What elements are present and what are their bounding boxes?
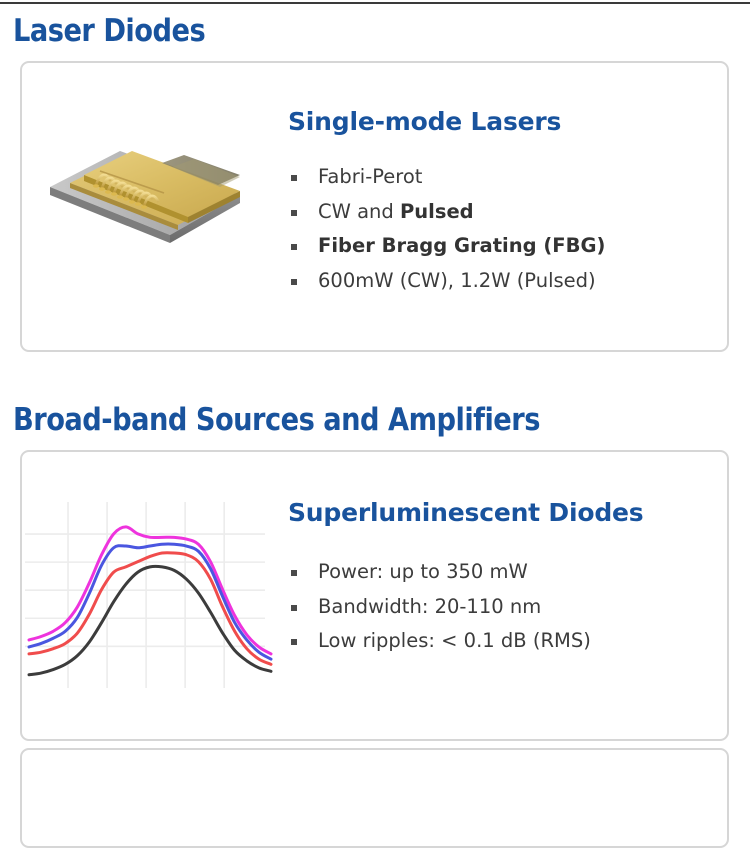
bullet-square-icon — [291, 605, 297, 611]
section-heading-laser-diodes: Laser Diodes — [13, 16, 205, 47]
feature-text: CW and — [318, 200, 400, 223]
bullet-square-icon — [291, 244, 297, 250]
list-item: CW and Pulsed — [288, 202, 605, 222]
list-item: Fabri-Perot — [288, 167, 605, 187]
chart-series — [29, 527, 271, 675]
card-text-column: Superluminescent Diodes Power: up to 350… — [288, 452, 719, 739]
list-item: Bandwidth: 20-110 nm — [288, 597, 591, 617]
laser-diode-chip-photo — [44, 113, 264, 258]
feature-text: Power: up to 350 mW — [318, 560, 528, 583]
product-card-single-mode-lasers[interactable]: Single-mode Lasers Fabri-Perot CW and Pu… — [20, 61, 729, 352]
feature-list-single-mode-lasers: Fabri-Perot CW and Pulsed Fiber Bragg Gr… — [288, 167, 605, 305]
card-media-spectrum-chart — [22, 452, 284, 739]
card-text-column: Single-mode Lasers Fabri-Perot CW and Pu… — [288, 63, 719, 350]
list-item: Fiber Bragg Grating (FBG) — [288, 236, 605, 256]
chart-gridlines — [25, 502, 265, 688]
feature-text: Fabri-Perot — [318, 165, 422, 188]
section-heading-broadband-sources: Broad-band Sources and Amplifiers — [13, 405, 540, 436]
feature-text: Bandwidth: 20-110 nm — [318, 595, 541, 618]
card-title-superluminescent-diodes: Superluminescent Diodes — [288, 500, 643, 525]
bullet-square-icon — [291, 279, 297, 285]
chart-series-red-spectrum — [29, 553, 271, 665]
product-card-superluminescent-diodes[interactable]: Superluminescent Diodes Power: up to 350… — [20, 450, 729, 741]
feature-text: Fiber Bragg Grating (FBG) — [318, 234, 605, 257]
bullet-square-icon — [291, 570, 297, 576]
card-media-laser-diode — [22, 63, 284, 350]
product-page: Laser Diodes — [0, 0, 750, 750]
bullet-square-icon — [291, 639, 297, 645]
product-card-next-partial[interactable] — [20, 748, 729, 848]
list-item: 600mW (CW), 1.2W (Pulsed) — [288, 271, 605, 291]
bullet-square-icon — [291, 175, 297, 181]
feature-list-superluminescent-diodes: Power: up to 350 mW Bandwidth: 20-110 nm… — [288, 562, 591, 666]
bullet-square-icon — [291, 210, 297, 216]
feature-text: 600mW (CW), 1.2W (Pulsed) — [318, 269, 596, 292]
feature-text-emphasis: Pulsed — [400, 200, 474, 223]
spectrum-chart-thumbnail — [25, 500, 275, 690]
list-item: Power: up to 350 mW — [288, 562, 591, 582]
card-title-single-mode-lasers: Single-mode Lasers — [288, 109, 561, 134]
list-item: Low ripples: < 0.1 dB (RMS) — [288, 631, 591, 651]
feature-text: Low ripples: < 0.1 dB (RMS) — [318, 629, 591, 652]
